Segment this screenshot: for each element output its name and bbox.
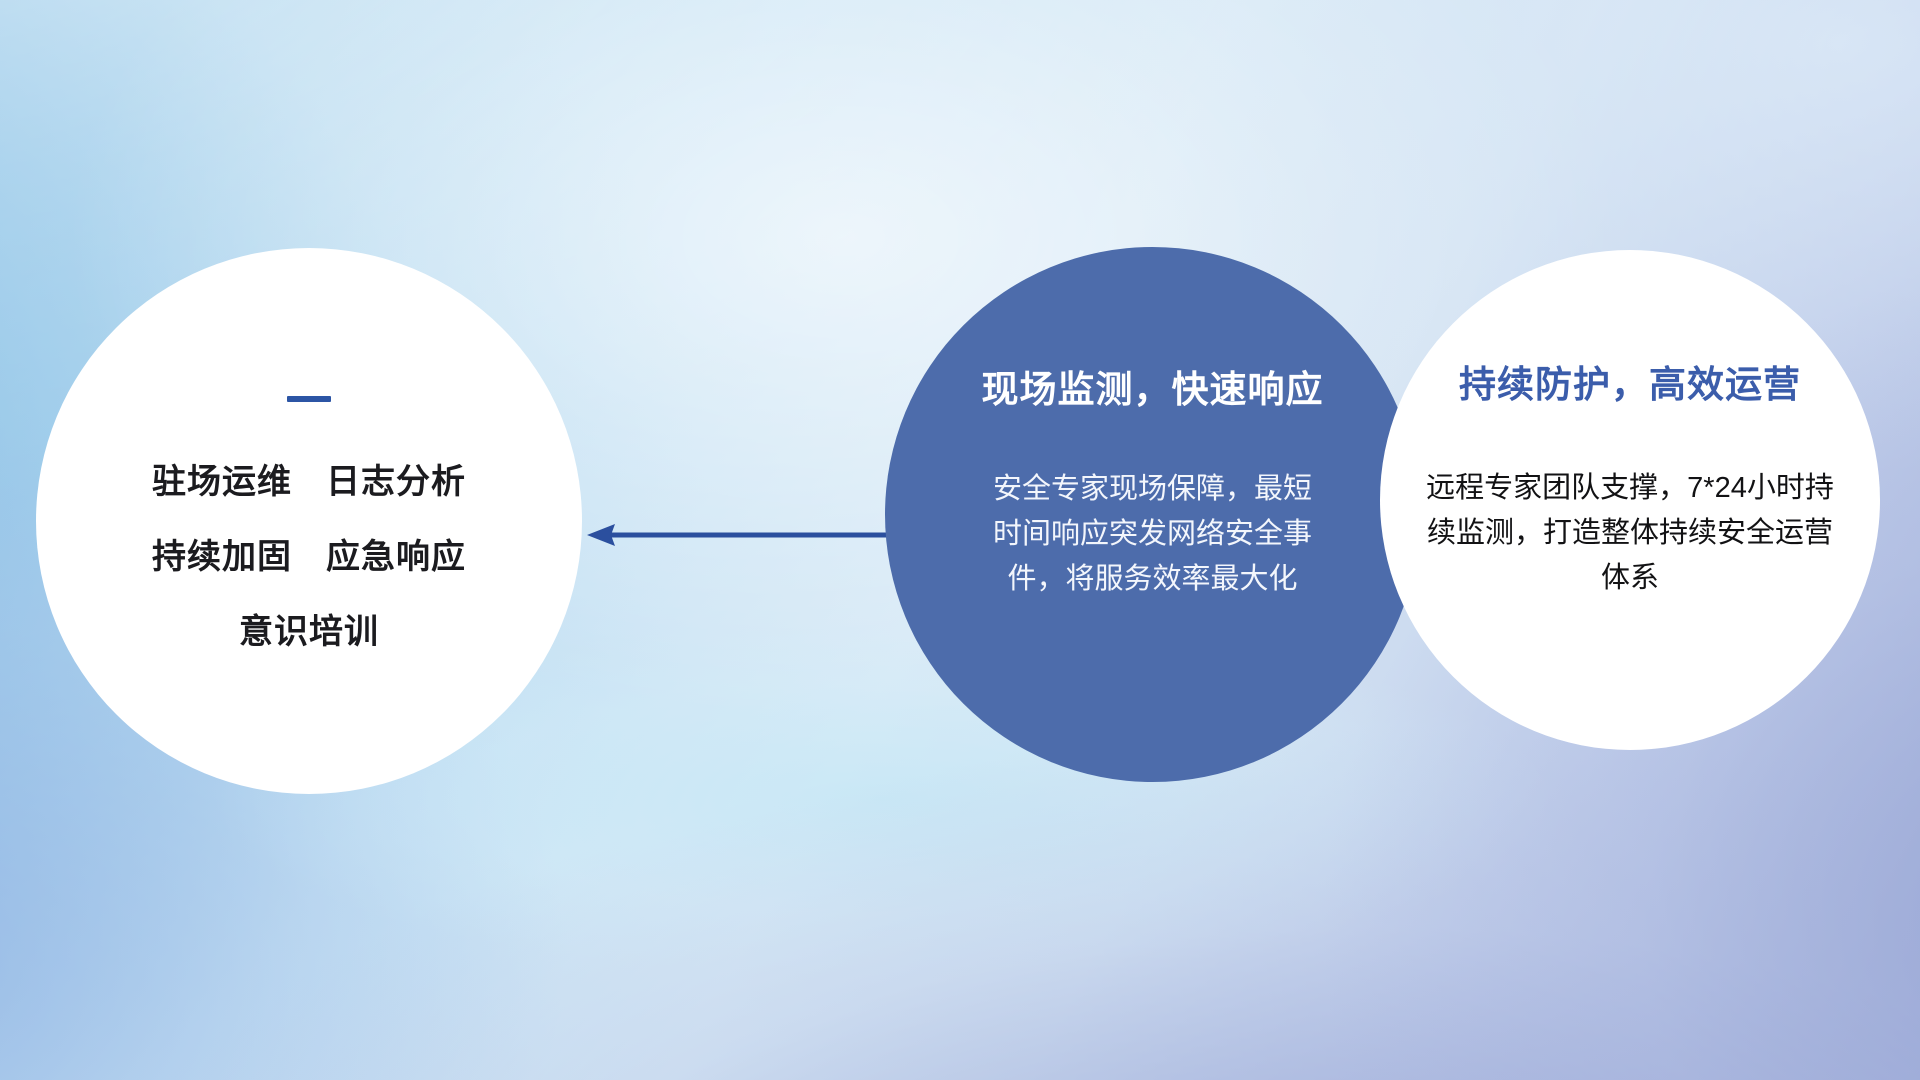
connector-arrow-leftward — [585, 515, 910, 555]
right-white-circle — [1380, 250, 1880, 750]
middle-blue-circle — [885, 247, 1420, 782]
slide-canvas: 驻场运维 日志分析 持续加固 应急响应 意识培训 现场监测，快速响应 安全专家现… — [0, 0, 1920, 1080]
left-white-circle — [36, 248, 582, 794]
